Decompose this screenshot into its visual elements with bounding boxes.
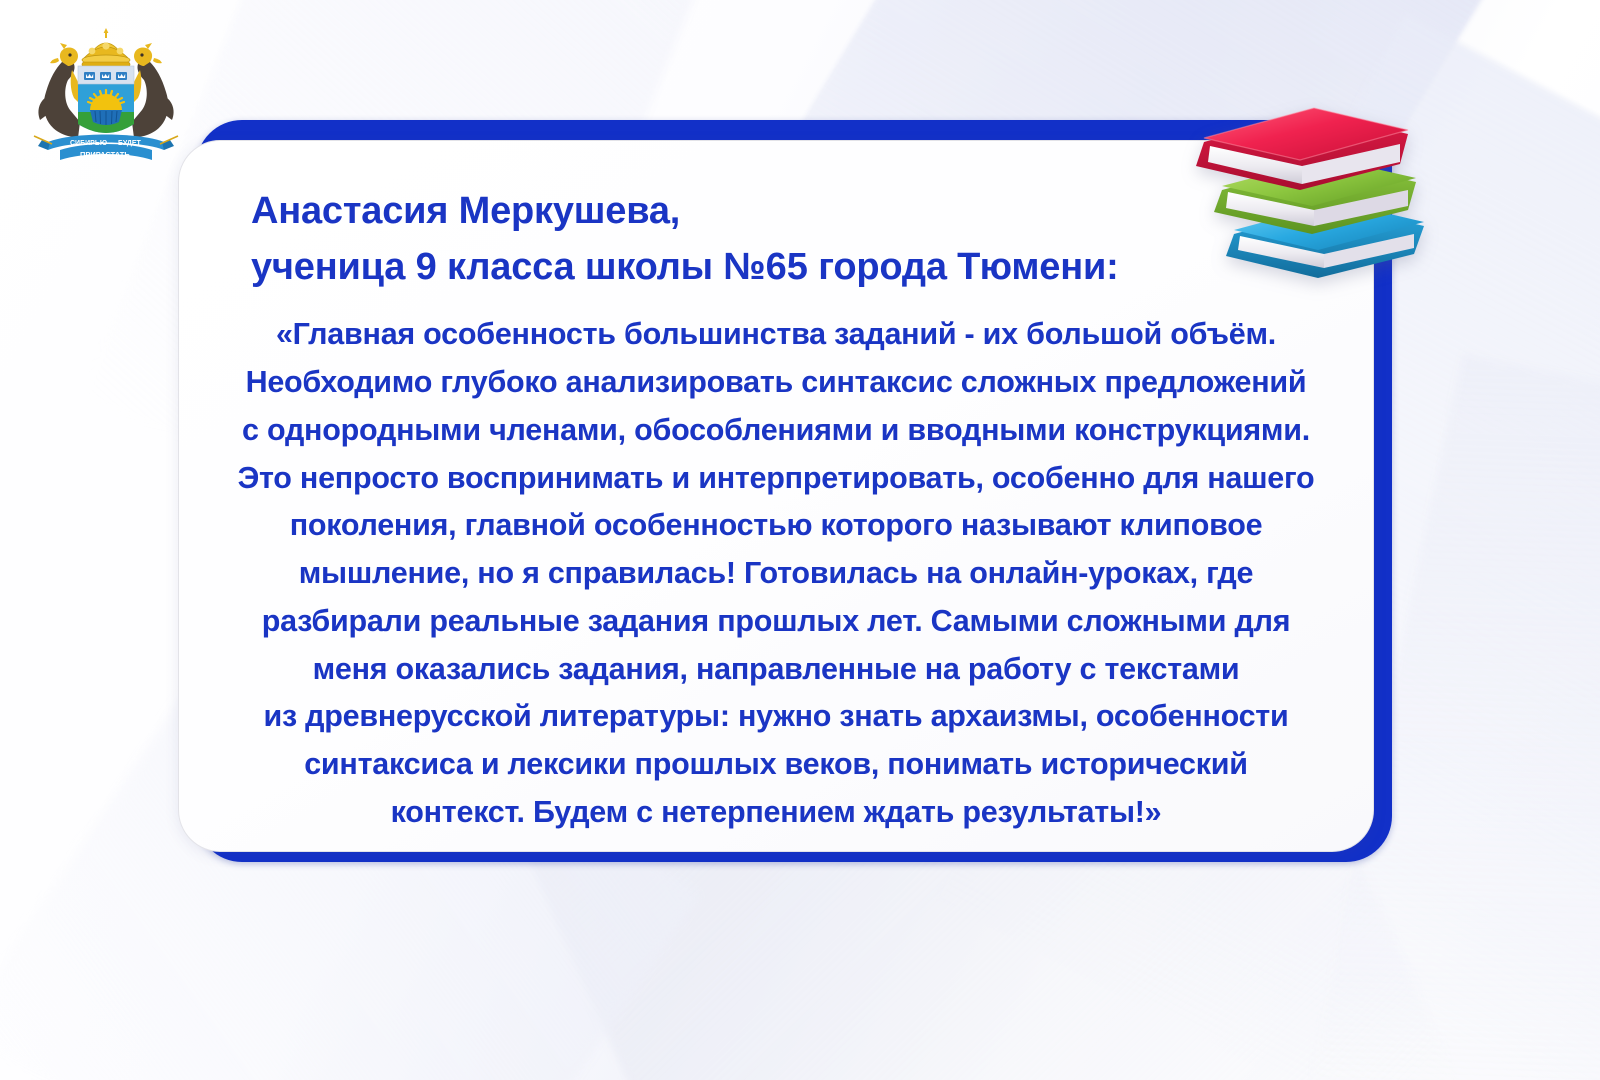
stack-of-books-icon — [1178, 58, 1446, 294]
speaker-heading: Анастасия Меркушева, ученица 9 класса шк… — [251, 183, 1327, 295]
speaker-role: ученица 9 класса школы №65 города Тюмени… — [251, 239, 1327, 295]
shield — [78, 66, 134, 133]
quote-line: из древнерусской литературы: нужно знать… — [225, 693, 1327, 741]
motto-top-right: БУДЕТ — [118, 140, 142, 147]
quote-line: Это непросто воспринимать и интерпретиро… — [225, 455, 1327, 503]
quote-line: синтаксиса и лексики прошлых веков, пони… — [225, 741, 1327, 789]
slide-canvas: СИБИРЬЮ БУДЕТ ПРИРАСТАТЬ Анастасия Мерку… — [0, 0, 1600, 1080]
grade-number: 9 — [416, 246, 437, 288]
heraldic-supporter-right — [130, 43, 174, 138]
quote-line: «Главная особенность большинства заданий… — [225, 311, 1327, 359]
quote-line: меня оказались задания, направленные на … — [225, 646, 1327, 694]
role-middle: класса школы — [437, 246, 724, 288]
quote-line: с однородными членами, обособлениями и в… — [225, 407, 1327, 455]
speaker-name: Анастасия Меркушева, — [251, 183, 1327, 239]
quote-line: Необходимо глубоко анализировать синтакс… — [225, 359, 1327, 407]
coat-of-arms-icon: СИБИРЬЮ БУДЕТ ПРИРАСТАТЬ — [22, 18, 190, 170]
quote-line: разбирали реальные задания прошлых лет. … — [225, 598, 1327, 646]
heraldic-supporter-left — [38, 43, 82, 138]
quote-line: поколения, главной особенностью которого… — [225, 502, 1327, 550]
motto-top-left: СИБИРЬЮ — [70, 140, 107, 147]
role-prefix: ученица — [251, 246, 416, 288]
quote-line: контекст. Будем с нетерпением ждать резу… — [225, 789, 1327, 837]
motto-ribbon: СИБИРЬЮ БУДЕТ ПРИРАСТАТЬ — [34, 135, 178, 161]
quote-line: мышление, но я справилась! Готовилась на… — [225, 550, 1327, 598]
quote-text: «Главная особенность большинства заданий… — [225, 311, 1327, 836]
motto-bottom: ПРИРАСТАТЬ — [80, 150, 130, 159]
crown-icon — [82, 28, 130, 67]
role-suffix: города Тюмени: — [808, 246, 1119, 288]
school-number: №65 — [723, 246, 808, 288]
